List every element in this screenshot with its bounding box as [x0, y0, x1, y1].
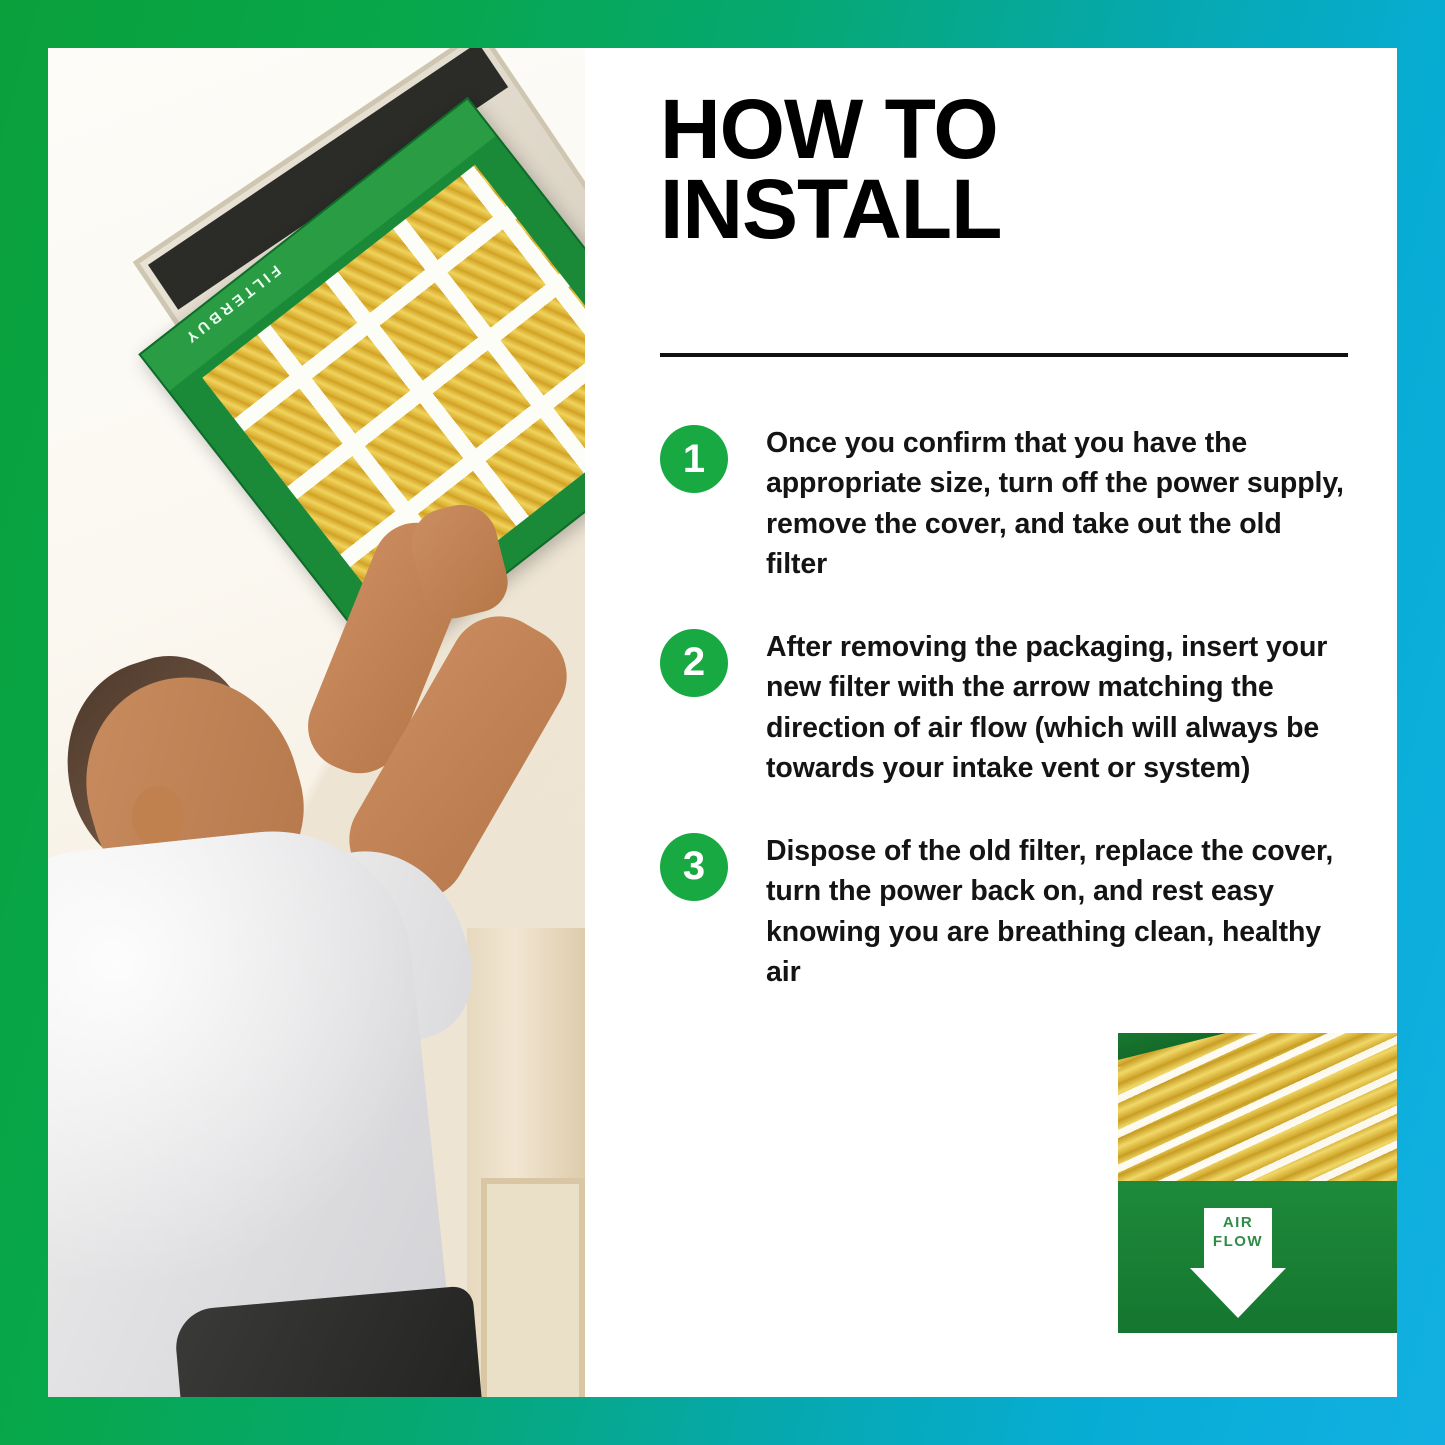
air-flow-label-line-2: FLOW: [1190, 1233, 1286, 1252]
step-number-badge-1: 1: [660, 425, 728, 493]
gradient-border-frame: FILTERBUY HOW TO INSTALL: [0, 0, 1445, 1445]
step-item-3: 3 Dispose of the old filter, replace the…: [660, 831, 1360, 993]
page-title-line-2: INSTALL: [660, 170, 1360, 250]
steps-list: 1 Once you confirm that you have the app…: [660, 423, 1360, 1035]
person-ear: [132, 786, 184, 848]
air-flow-arrow-icon: AIR FLOW: [1190, 1208, 1286, 1318]
step-item-2: 2 After removing the packaging, insert y…: [660, 627, 1360, 789]
step-text-2: After removing the packaging, insert you…: [766, 627, 1346, 789]
page-title-line-1: HOW TO: [660, 90, 1360, 170]
title-divider: [660, 353, 1348, 357]
step-number-badge-3: 3: [660, 833, 728, 901]
product-top-face: [1118, 1033, 1397, 1203]
door-frame: [467, 928, 585, 1397]
step-text-3: Dispose of the old filter, replace the c…: [766, 831, 1346, 993]
product-filter-image: FILTERBUY AIR FLOW: [1118, 1033, 1397, 1333]
product-pleat-separators: [1118, 1033, 1397, 1203]
content-canvas: FILTERBUY HOW TO INSTALL: [48, 48, 1397, 1397]
product-inner: FILTERBUY AIR FLOW: [1118, 1033, 1397, 1333]
installation-photo: FILTERBUY: [48, 48, 585, 1397]
arrow-head: [1190, 1268, 1286, 1318]
step-item-1: 1 Once you confirm that you have the app…: [660, 423, 1360, 585]
step-text-1: Once you confirm that you have the appro…: [766, 423, 1346, 585]
step-number-badge-2: 2: [660, 629, 728, 697]
page-title: HOW TO INSTALL: [660, 90, 1360, 250]
air-flow-label: AIR FLOW: [1190, 1214, 1286, 1252]
air-flow-label-line-1: AIR: [1190, 1214, 1286, 1233]
